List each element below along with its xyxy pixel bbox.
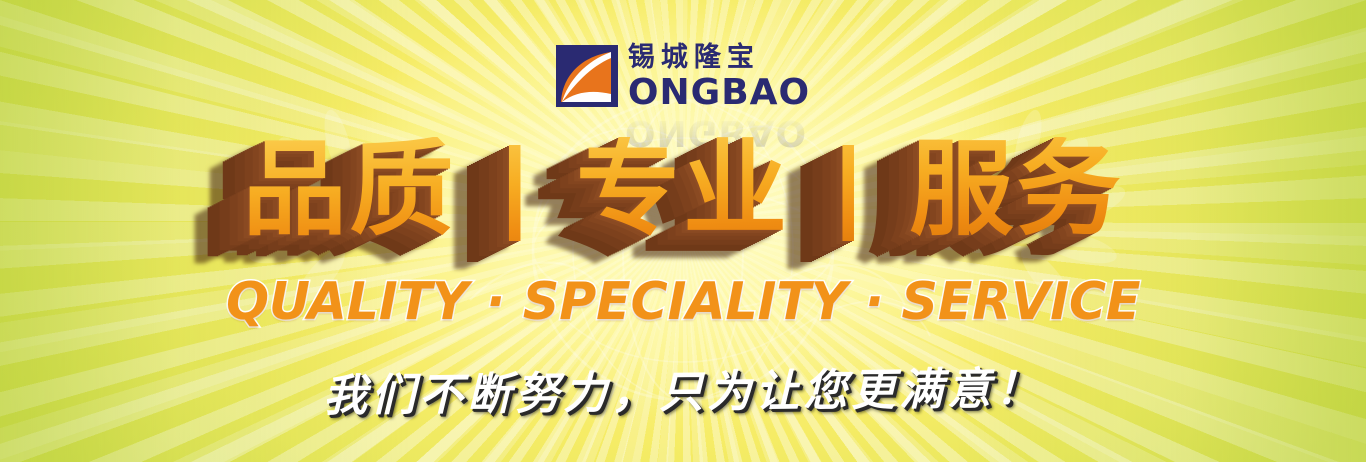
english-tagline: QUALITY · SPECIALITY · SERVICE — [0, 272, 1366, 332]
brand-logo: 锡城隆宝 ONGBAO — [0, 44, 1366, 111]
headline-text: 品质 | 专业 | 服务 — [243, 137, 1124, 241]
english-tagline-text: QUALITY · SPECIALITY · SERVICE — [226, 272, 1140, 332]
headline: 品质 | 专业 | 服务 — [0, 137, 1366, 241]
logo-company-cn: 锡城隆宝 — [628, 44, 810, 74]
slogan-text: 我们不断努力，只为让您更满意！ — [323, 352, 1044, 424]
sail-leaf-mark-icon — [556, 45, 618, 107]
slogan: 我们不断努力，只为让您更满意！ — [0, 356, 1366, 420]
promotional-banner: ONGBAO 锡城隆宝 ONGBAO 品质 | 专业 | 服务 QUALITY … — [0, 0, 1366, 462]
logo-company-en: ONGBAO — [628, 75, 810, 111]
